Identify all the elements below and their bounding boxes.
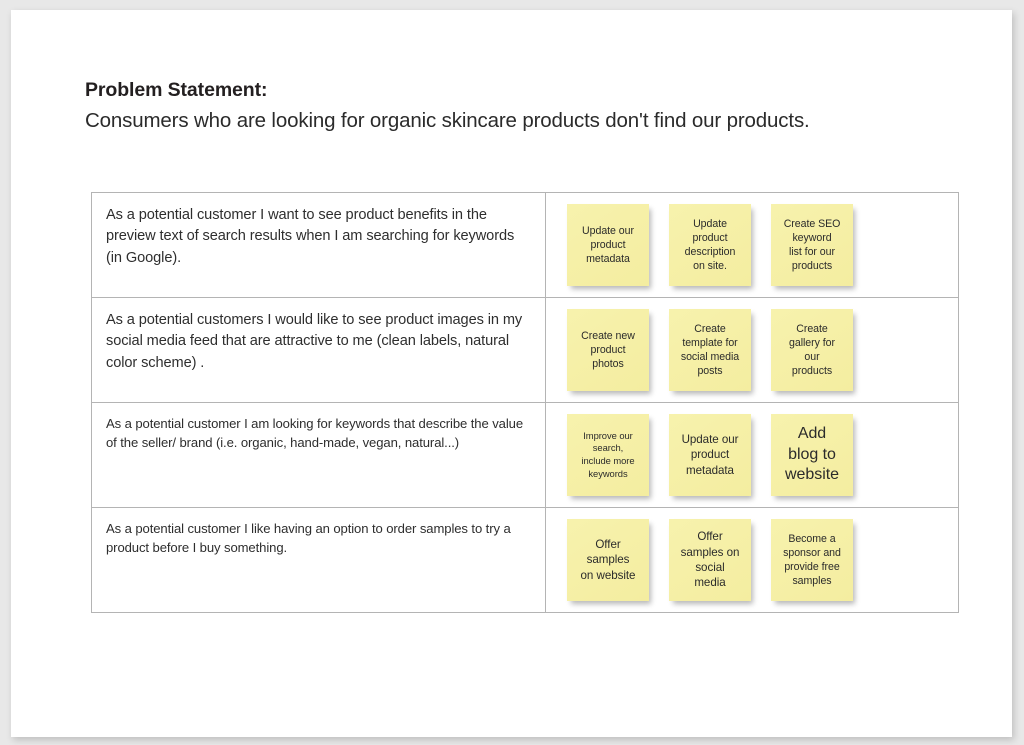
user-story-text: As a potential customer I am looking for…: [106, 415, 531, 453]
page-title: Problem Statement:: [85, 76, 965, 104]
sticky-note[interactable]: Update product description on site.: [669, 204, 751, 286]
sticky-note[interactable]: Add blog to website: [771, 414, 853, 496]
sticky-note[interactable]: Create template for social media posts: [669, 309, 751, 391]
table-body: As a potential customer I want to see pr…: [92, 193, 959, 613]
sticky-note-label: Create template for social media posts: [681, 322, 739, 378]
table-row: As a potential customer I am looking for…: [92, 403, 959, 508]
table-row: As a potential customer I want to see pr…: [92, 193, 959, 298]
sticky-note-label: Update our product metadata: [682, 432, 739, 478]
ideas-cell: Improve our search, include more keyword…: [546, 403, 959, 508]
sticky-note[interactable]: Offer samples on website: [567, 519, 649, 601]
problem-statement-text: Consumers who are looking for organic sk…: [85, 106, 965, 137]
sticky-note[interactable]: Update our product metadata: [567, 204, 649, 286]
ideas-cell: Create new product photos Create templat…: [546, 298, 959, 403]
user-story-cell: As a potential customer I like having an…: [92, 508, 546, 613]
sticky-note[interactable]: Create new product photos: [567, 309, 649, 391]
sticky-note-group: Offer samples on website Offer samples o…: [546, 508, 958, 612]
sticky-note-label: Create SEO keyword list for our products: [784, 217, 841, 273]
sticky-note-group: Improve our search, include more keyword…: [546, 403, 958, 507]
user-story-text: As a potential customer I want to see pr…: [106, 205, 531, 269]
sticky-note-label: Become a sponsor and provide free sample…: [783, 532, 841, 588]
user-story-cell: As a potential customer I am looking for…: [92, 403, 546, 508]
sticky-note-label: Offer samples on website: [581, 537, 636, 583]
slide-card: Problem Statement: Consumers who are loo…: [11, 10, 1012, 737]
ideas-cell: Offer samples on website Offer samples o…: [546, 508, 959, 613]
table-row: As a potential customer I like having an…: [92, 508, 959, 613]
sticky-note-label: Update product description on site.: [685, 217, 736, 273]
sticky-note[interactable]: Update our product metadata: [669, 414, 751, 496]
sticky-note-label: Offer samples on social media: [681, 529, 740, 590]
sticky-note-label: Update our product metadata: [582, 224, 634, 266]
table-row: As a potential customers I would like to…: [92, 298, 959, 403]
user-story-table: As a potential customer I want to see pr…: [91, 192, 959, 613]
sticky-note[interactable]: Offer samples on social media: [669, 519, 751, 601]
sticky-note-label: Improve our search, include more keyword…: [581, 430, 634, 481]
sticky-note[interactable]: Create gallery for our products: [771, 309, 853, 391]
ideas-cell: Update our product metadata Update produ…: [546, 193, 959, 298]
sticky-note-label: Add blog to website: [785, 424, 839, 486]
user-story-text: As a potential customers I would like to…: [106, 310, 531, 374]
sticky-note-label: Create new product photos: [581, 329, 635, 371]
sticky-note[interactable]: Improve our search, include more keyword…: [567, 414, 649, 496]
sticky-note-group: Create new product photos Create templat…: [546, 298, 958, 402]
user-story-text: As a potential customer I like having an…: [106, 520, 531, 558]
header: Problem Statement: Consumers who are loo…: [85, 76, 965, 137]
sticky-note[interactable]: Become a sponsor and provide free sample…: [771, 519, 853, 601]
user-story-cell: As a potential customers I would like to…: [92, 298, 546, 403]
sticky-note-label: Create gallery for our products: [789, 322, 835, 378]
user-story-cell: As a potential customer I want to see pr…: [92, 193, 546, 298]
sticky-note-group: Update our product metadata Update produ…: [546, 193, 958, 297]
sticky-note[interactable]: Create SEO keyword list for our products: [771, 204, 853, 286]
